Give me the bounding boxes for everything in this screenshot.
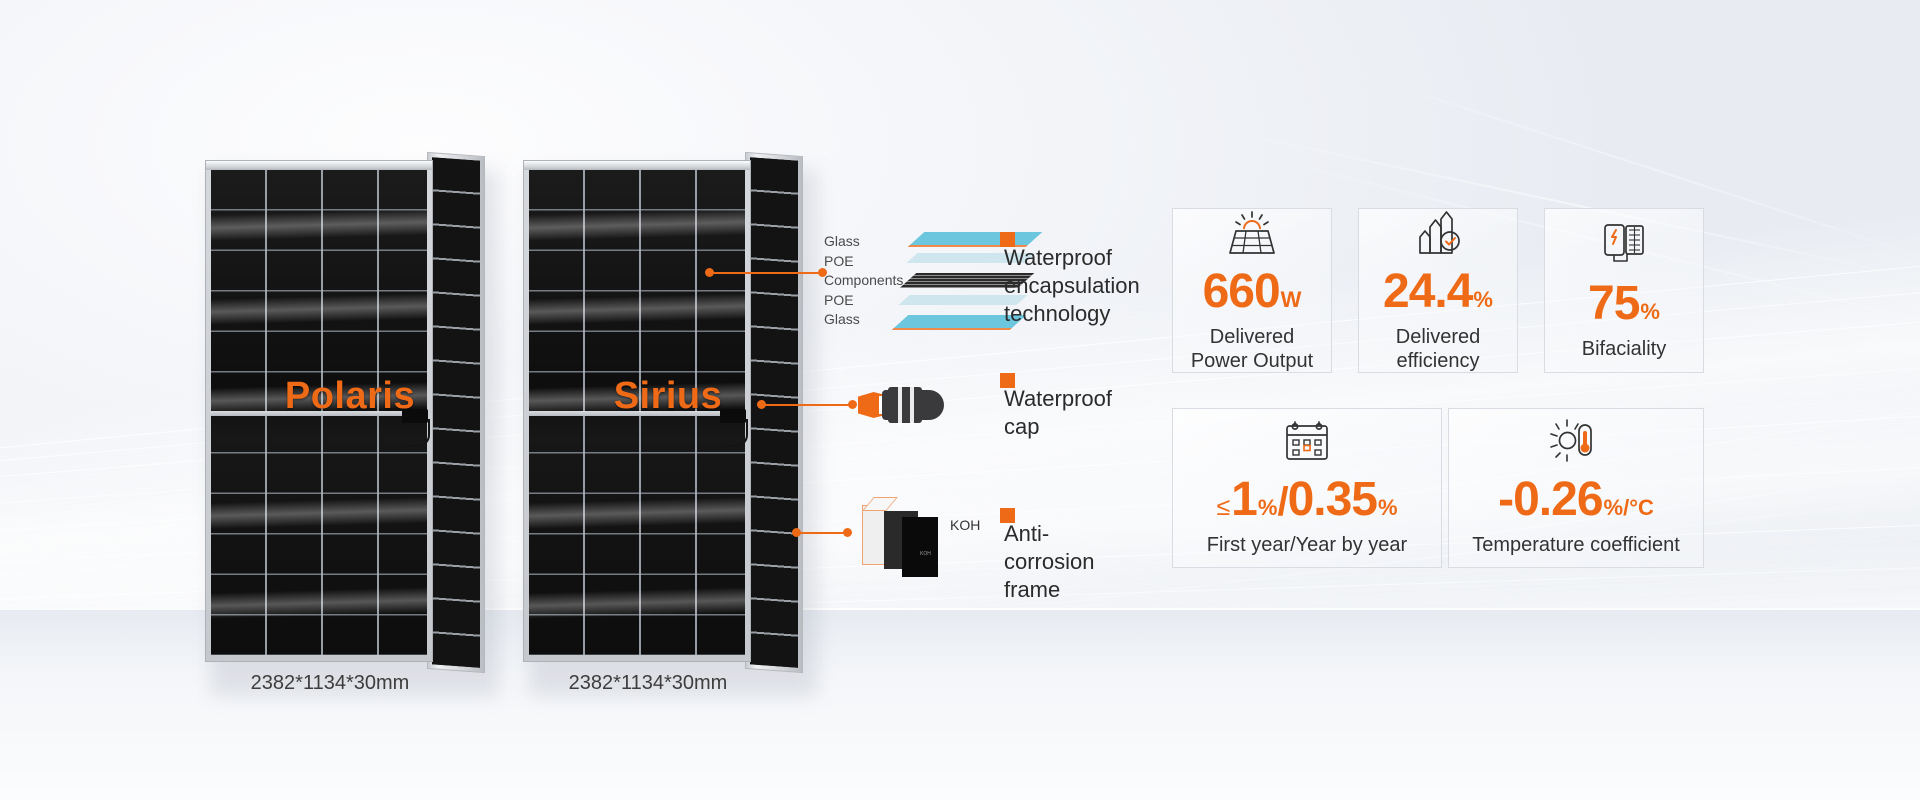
panel-gleam-5 xyxy=(211,586,427,620)
cap-rib-gap-2 xyxy=(910,385,914,425)
panel-brand-label-polaris: Polaris xyxy=(205,375,495,418)
panel-gleam-2 xyxy=(529,292,745,326)
growth-arrows-check-icon xyxy=(1412,209,1464,262)
stat-unit-2: % xyxy=(1378,497,1398,519)
stat-value-2: 0.35 xyxy=(1288,476,1377,524)
stat-unit: % xyxy=(1473,289,1493,311)
stat-value: -0.26 xyxy=(1498,476,1602,524)
frame-plate-top-bevel xyxy=(862,497,898,511)
callout-connector-line xyxy=(762,404,852,406)
junction-wire-icon xyxy=(724,419,748,447)
stat-value: 1 xyxy=(1231,476,1257,524)
stat-value-group: 75% xyxy=(1588,280,1660,328)
callout-connector-line xyxy=(712,272,824,274)
stat-card-delivered-efficiency[interactable]: 24.4% Delivered efficiency xyxy=(1358,208,1518,373)
sun-thermometer-icon xyxy=(1548,419,1604,470)
panel-frame-top xyxy=(524,161,750,170)
anti-corrosion-frame-icon: KOH KOH xyxy=(862,497,992,575)
stat-value-group: 660W xyxy=(1203,268,1302,316)
panel-gleam-2 xyxy=(211,292,427,326)
koh-label: KOH xyxy=(950,517,980,533)
layer-name-poe-bottom: POE xyxy=(824,291,910,311)
stat-unit: % xyxy=(1258,497,1278,519)
feature-label-waterproof-encapsulation: Waterproof encapsulation technology xyxy=(1004,244,1174,328)
stat-caption: Bifaciality xyxy=(1582,337,1666,361)
callout-connector-line xyxy=(800,532,845,534)
stat-value-group: 24.4% xyxy=(1383,268,1493,316)
stat-unit: %/°C xyxy=(1604,497,1654,519)
stat-prefix: ≤ xyxy=(1216,495,1230,520)
frame-plate-dark-2 xyxy=(902,517,938,577)
stat-value: 75 xyxy=(1588,280,1639,328)
bifacial-panel-icon xyxy=(1597,221,1651,274)
cap-ribs xyxy=(888,387,922,423)
product-panel-sirius[interactable]: Sirius 2382*1134*30mm xyxy=(523,160,813,690)
panel-dimension-label-sirius: 2382*1134*30mm xyxy=(483,672,813,695)
encapsulation-layer-names: Glass POE Components POE Glass xyxy=(824,232,910,330)
layer-name-components: Components xyxy=(824,271,910,291)
stat-caption: Delivered efficiency xyxy=(1396,325,1480,373)
product-panel-polaris[interactable]: Polaris 2382*1134*30mm xyxy=(205,160,495,690)
stat-unit: W xyxy=(1281,289,1302,311)
koh-micro-label: KOH xyxy=(920,551,931,557)
stat-caption: Temperature coefficient xyxy=(1472,533,1680,557)
stat-card-delivered-power-output[interactable]: 660W Delivered Power Output xyxy=(1172,208,1332,373)
layer-name-glass-top: Glass xyxy=(824,232,910,252)
stat-separator: / xyxy=(1277,482,1287,522)
waterproof-cap-icon xyxy=(858,385,973,425)
callout-dot-target xyxy=(843,528,852,537)
stat-card-degradation[interactable]: ≤1%/0.35% First year/Year by year xyxy=(1172,408,1442,568)
callout-dot-target xyxy=(848,400,857,409)
stat-unit: % xyxy=(1640,301,1660,323)
stat-caption: Delivered Power Output xyxy=(1191,325,1313,373)
frame-plate-light xyxy=(862,505,886,565)
feature-label-anti-corrosion-frame: Anti- corrosion frame xyxy=(1004,520,1154,604)
panel-gleam-1 xyxy=(529,208,745,242)
layer-name-poe-top: POE xyxy=(824,252,910,272)
stat-value-group: ≤1%/0.35% xyxy=(1216,476,1397,524)
encapsulation-layer-diagram: Glass POE Components POE Glass xyxy=(824,232,1029,342)
stat-card-bifaciality[interactable]: 75% Bifaciality xyxy=(1544,208,1704,373)
solar-panel-sun-icon xyxy=(1224,209,1280,262)
panel-dimension-label-polaris: 2382*1134*30mm xyxy=(165,672,495,695)
cap-rib-gap-1 xyxy=(898,385,902,425)
panel-gleam-5 xyxy=(529,586,745,620)
panel-brand-label-sirius: Sirius xyxy=(523,375,813,418)
stat-card-temperature-coefficient[interactable]: -0.26%/°C Temperature coefficient xyxy=(1448,408,1704,568)
stat-value-group: -0.26%/°C xyxy=(1498,476,1654,524)
stat-caption: First year/Year by year xyxy=(1207,533,1407,557)
calendar-icon xyxy=(1282,419,1332,470)
stat-value: 24.4 xyxy=(1383,268,1472,316)
feature-label-waterproof-cap: Waterproof cap xyxy=(1004,385,1174,441)
junction-wire-icon xyxy=(406,419,430,447)
panel-gleam-4 xyxy=(211,496,427,530)
stat-value: 660 xyxy=(1203,268,1280,316)
panel-gleam-4 xyxy=(529,496,745,530)
panel-frame-top xyxy=(206,161,432,170)
panel-gleam-1 xyxy=(211,208,427,242)
